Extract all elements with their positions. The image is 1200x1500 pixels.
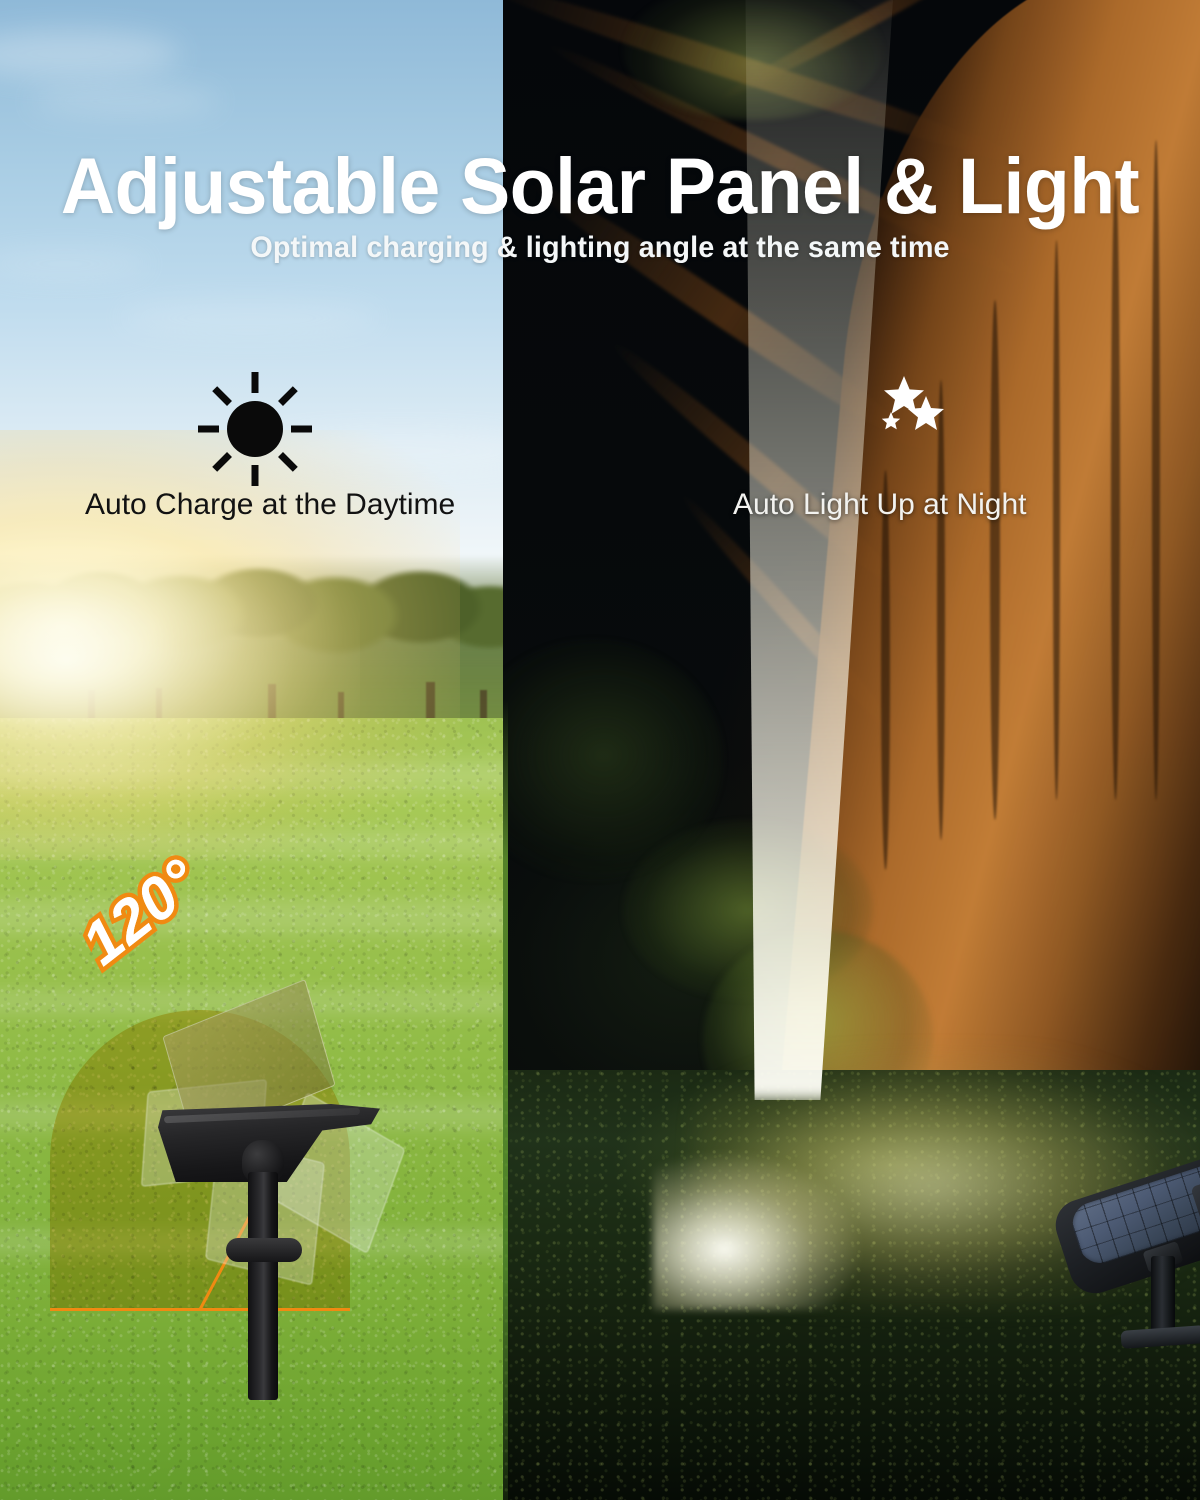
night-scene-panel bbox=[503, 0, 1200, 1500]
spotlight-stem bbox=[1151, 1256, 1175, 1338]
stake-collar bbox=[226, 1238, 302, 1262]
feature-day-caption: Auto Charge at the Daytime bbox=[85, 490, 425, 520]
cloud-wisp bbox=[120, 300, 380, 336]
day-product-composite bbox=[150, 1000, 410, 1400]
feature-night-caption: Auto Light Up at Night bbox=[733, 490, 1023, 520]
night-product-spotlight bbox=[1059, 1172, 1200, 1372]
ground-stake-post bbox=[248, 1172, 278, 1400]
bark-striation bbox=[1152, 140, 1160, 800]
feature-night: Auto Light Up at Night bbox=[733, 368, 1023, 520]
cloud-wisp bbox=[30, 86, 220, 116]
bark-striation bbox=[1111, 180, 1120, 800]
lawn-stripe bbox=[0, 830, 503, 856]
day-scene-panel: 120° 120° bbox=[0, 0, 503, 1500]
sun-icon bbox=[85, 368, 425, 490]
bark-striation bbox=[1053, 240, 1060, 800]
product-feature-graphic: 120° 120° bbox=[0, 0, 1200, 1500]
moon-stars-icon bbox=[733, 368, 1023, 490]
feature-day: Auto Charge at the Daytime bbox=[85, 368, 425, 520]
lawn-stripe bbox=[0, 760, 503, 790]
panel-edge-strip bbox=[503, 700, 508, 1500]
bark-striation bbox=[881, 470, 890, 870]
spotlight-base bbox=[1120, 1325, 1200, 1349]
